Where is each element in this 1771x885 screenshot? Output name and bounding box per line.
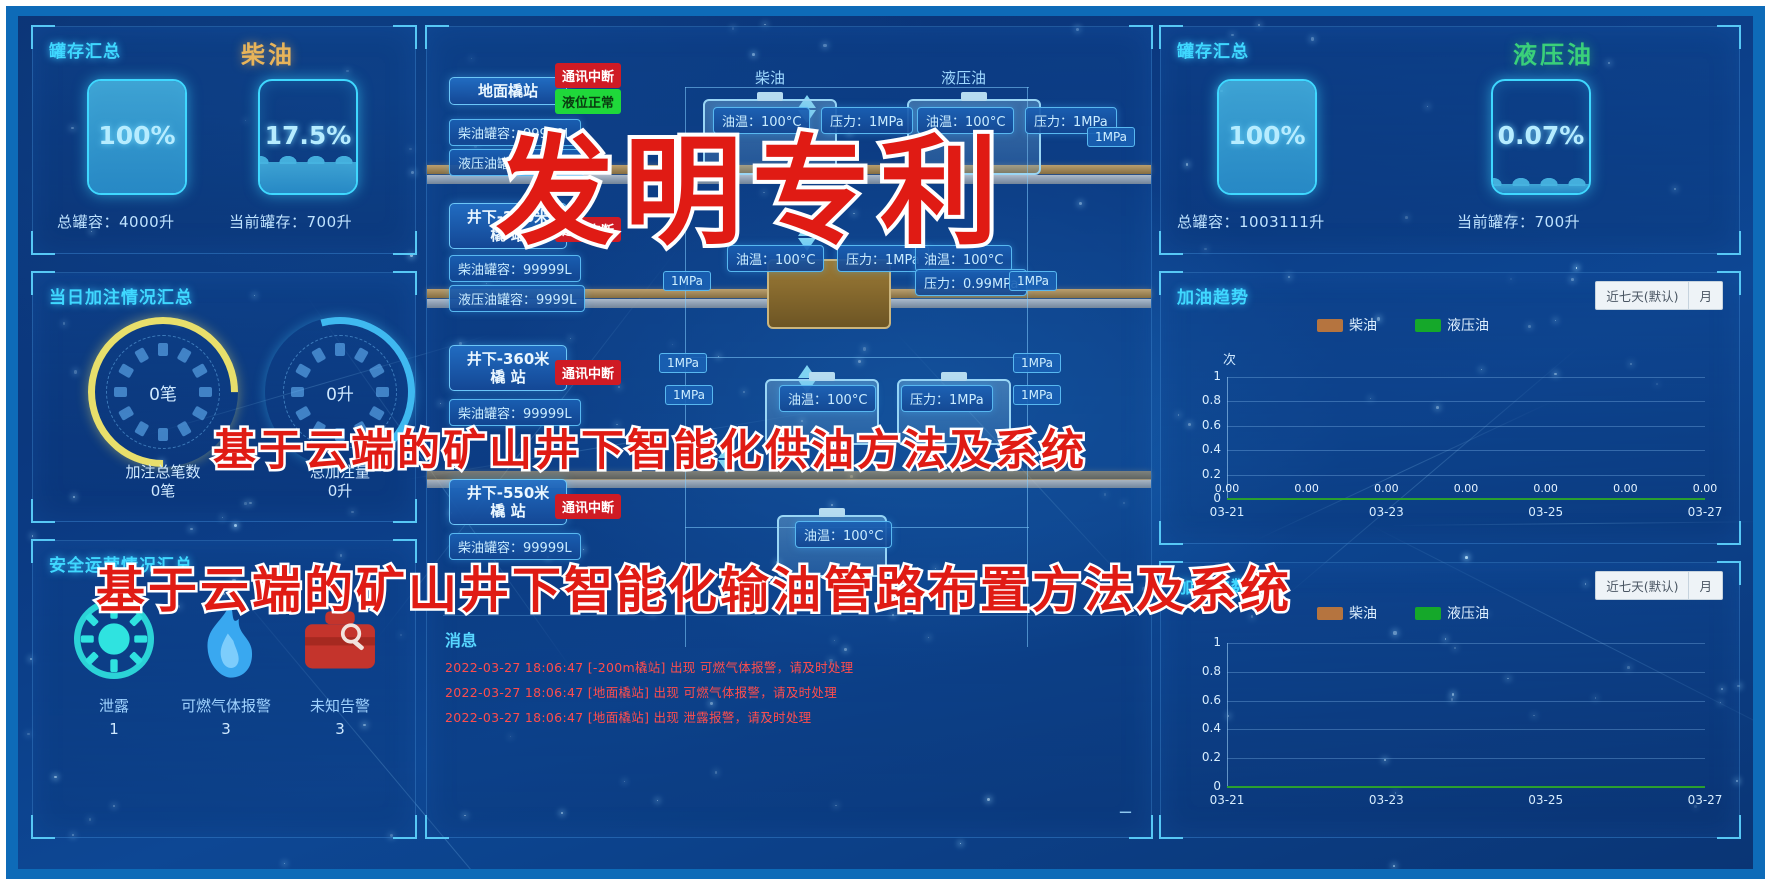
chart-y-tick: 0.8 [1187,664,1221,678]
particle [190,528,193,531]
legend-label-diesel-2: 柴油 [1349,603,1377,623]
chart-point-label: 0.00 [1363,482,1409,495]
particle [234,524,237,527]
right-tank-current-percent: 0.07% [1493,121,1589,150]
legend-label-diesel: 柴油 [1349,315,1377,335]
right-current-stock-label: 当前罐存：700升 [1457,211,1580,232]
right-tank-total: 100% [1217,79,1317,195]
station-ground-badge-comm: 通讯中断 [555,63,621,88]
chart-point-label: 0.00 [1602,482,1648,495]
chart-point-label: 0.00 [1284,482,1330,495]
left-oil-type-label: 柴油 [241,35,295,70]
chart-x-tick: 03-27 [1682,505,1728,519]
chart-top-legend-hydraulic: 液压油 [1415,315,1489,335]
particle [1465,556,1468,559]
chart-y-tick: 0.4 [1187,442,1221,456]
message-panel-title: 消息 [445,627,477,651]
watermark-line-1: 基于云端的矿山井下智能化供油方法及系统 [213,416,1087,478]
right-tank-current: 0.07% [1491,79,1591,195]
gauge-refuel-volume-label-2: 0升 [250,482,430,501]
legend-swatch-hydraulic-2 [1415,607,1441,620]
chart-series-line [1227,498,1705,500]
pressure-tag-2: 1MPa [1087,127,1135,147]
particle [27,733,29,735]
chart-y-tick: 0.6 [1187,693,1221,707]
chart-gridline [1227,450,1705,451]
right-oil-type-label: 液压油 [1513,35,1594,70]
chart-x-tick: 03-23 [1363,793,1409,807]
chart-y-tick: 1 [1187,369,1221,383]
message-line-1: 2022-03-27 18:06:47 [-200m橇站] 出现 可燃气体报警，… [445,657,853,676]
chart-bottom-range-week[interactable]: 近七天(默认) [1596,572,1689,599]
chart-bottom-legend-diesel: 柴油 [1317,603,1377,623]
minimize-icon[interactable]: − [1118,802,1133,823]
chart-top-range-selector[interactable]: 近七天(默认) 月 [1595,281,1723,310]
station-360m[interactable]: 井下-360米 橇 站 [449,345,567,391]
station-360m-line1: 井下-360米 [460,350,556,368]
left-tank-current: 17.5% [258,79,358,195]
chart-x-tick: 03-25 [1523,505,1569,519]
chart-x-tick: 03-21 [1204,793,1250,807]
chart-x-tick: 03-21 [1204,505,1250,519]
dashboard-stage: 罐存汇总 柴油 100% 17.5% 总罐容：4000升 当前罐存：700升 当… [18,16,1753,869]
refuel-today-title: 当日加注情况汇总 [49,283,193,308]
chart-y-tick: 0.8 [1187,393,1221,407]
chart-bottom-range-selector[interactable]: 近七天(默认) 月 [1595,571,1723,600]
station-360m-line2: 橇 站 [460,368,556,386]
chart-gridline [1227,377,1705,378]
safety-value-unknown-alarm: 3 [265,720,415,738]
legend-swatch-diesel [1317,319,1343,332]
chart-gridline [1227,672,1705,673]
dashboard-root: 罐存汇总 柴油 100% 17.5% 总罐容：4000升 当前罐存：700升 当… [0,0,1771,885]
pressure-tag-1: 1MPa [663,271,711,291]
readout-10: 压力：1MPa [901,385,993,412]
left-tank-current-percent: 17.5% [260,121,356,150]
chart-point-label: 0.00 [1204,482,1250,495]
equipment-label-hydraulic: 液压油 [933,64,994,91]
station-360m-badge-comm: 通讯中断 [555,360,621,385]
station-550m-line1: 井下-550米 [460,484,556,502]
chart-series-line [1227,786,1705,788]
legend-swatch-diesel-2 [1317,607,1343,620]
watermark-patent-title: 发明专利 [496,96,1008,267]
panel-left-refuel-today: 当日加注情况汇总 0笔 加注总笔数 0笔 0升 总加注量 0升 [32,272,416,522]
panel-right-tank-summary: 罐存汇总 液压油 100% 0.07% 总罐容：1003111升 当前罐存：70… [1160,26,1740,254]
chart-gridline [1227,758,1705,759]
chart-x-tick: 03-23 [1363,505,1409,519]
readout-11: 油温：100°C [795,521,892,548]
readout-9: 油温：100°C [779,385,876,412]
chart-gridline [1227,729,1705,730]
chart-x-tick: 03-27 [1682,793,1728,807]
pressure-tag-6: 1MPa [1013,353,1061,373]
right-tank-total-percent: 100% [1219,121,1315,150]
panel-chart-refuel-trend: 加油趋势 近七天(默认) 月 柴油 液压油 次 00.20.40.60.810.… [1160,272,1740,544]
particle [960,843,961,844]
particle [284,863,285,864]
chart-point-label: 0.00 [1523,482,1569,495]
chart-top-range-month[interactable]: 月 [1689,282,1722,309]
station-550m-line2: 橇 站 [460,502,556,520]
panel-left-tank-summary: 罐存汇总 柴油 100% 17.5% 总罐容：4000升 当前罐存：700升 [32,26,416,254]
equipment-label-diesel: 柴油 [747,64,793,91]
chart-y-tick: 0.4 [1187,721,1221,735]
gauge-refuel-count-label-2: 0笔 [73,482,253,501]
chart-gridline [1227,401,1705,402]
message-line-3: 2022-03-27 18:06:47 [地面橇站] 出现 泄露报警，请及时处理 [445,707,811,726]
chart-y-tick: 0.6 [1187,418,1221,432]
left-tank-summary-title: 罐存汇总 [49,37,121,62]
pressure-tag-4: 1MPa [659,353,707,373]
station-550m-badge-comm: 通讯中断 [555,494,621,519]
chart-bottom-legend-hydraulic: 液压油 [1415,603,1489,623]
chart-y-tick: 1 [1187,635,1221,649]
particle [32,535,34,537]
right-total-capacity-label: 总罐容：1003111升 [1177,211,1325,232]
legend-label-hydraulic-2: 液压油 [1447,603,1489,623]
chart-gridline [1227,701,1705,702]
chart-top-title: 加油趋势 [1177,283,1249,308]
chart-y-tick: 0.2 [1187,467,1221,481]
chart-point-label: 0.00 [1682,482,1728,495]
watermark-line-2: 基于云端的矿山井下智能化输油管路布置方法及系统 [96,551,1292,622]
chart-top-plot: 00.20.40.60.810.000.000.000.000.000.000.… [1181,369,1721,529]
safety-label-unknown-alarm: 未知告警 [265,695,415,716]
chart-point-label: 0.00 [1443,482,1489,495]
legend-label-hydraulic: 液压油 [1447,315,1489,335]
station-550m[interactable]: 井下-550米 橇 站 [449,479,567,525]
chart-top-y-unit: 次 [1223,349,1236,368]
chart-y-tick: 0 [1187,779,1221,793]
chart-y-axis [1227,643,1228,787]
chart-top-legend-diesel: 柴油 [1317,315,1377,335]
chart-bottom-range-month[interactable]: 月 [1689,572,1722,599]
message-line-2: 2022-03-27 18:06:47 [地面橇站] 出现 可燃气体报警，请及时… [445,682,837,701]
chart-x-tick: 03-25 [1523,793,1569,807]
pressure-tag-5: 1MPa [665,385,713,405]
chart-gridline [1227,475,1705,476]
chart-gridline [1227,643,1705,644]
left-tank-total-percent: 100% [89,121,185,150]
pressure-tag-7: 1MPa [1013,385,1061,405]
chart-y-tick: 0.2 [1187,750,1221,764]
left-tank-total: 100% [87,79,187,195]
particle [1393,865,1395,867]
chart-bottom-plot: 00.20.40.60.8103-2103-2303-2503-27 [1181,635,1721,817]
particle [1576,267,1577,268]
right-tank-summary-title: 罐存汇总 [1177,37,1249,62]
chart-y-axis [1227,377,1228,499]
left-current-stock-label: 当前罐存：700升 [229,211,352,232]
station-200m-tag-hydraulic: 液压油罐容：9999L [449,285,585,312]
legend-swatch-hydraulic [1415,319,1441,332]
schematic-line-h2 [685,357,1029,358]
chart-top-range-week[interactable]: 近七天(默认) [1596,282,1689,309]
chart-gridline [1227,426,1705,427]
pressure-tag-3: 1MPa [1009,271,1057,291]
left-total-capacity-label: 总罐容：4000升 [57,211,175,232]
